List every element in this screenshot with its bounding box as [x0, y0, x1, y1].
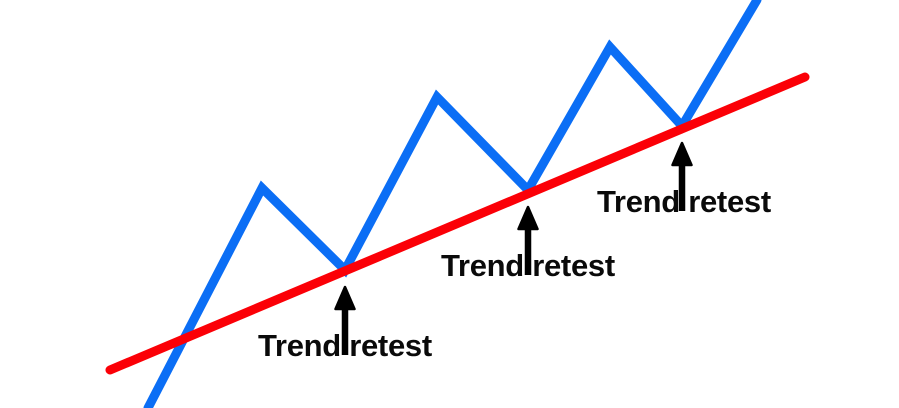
annotation-label-retest-1: Trend retest	[258, 330, 432, 361]
diagram-canvas: Trend retest Trend retest Trend retest	[0, 0, 899, 408]
annotation-label-retest-3: Trend retest	[597, 186, 771, 217]
annotation-label-retest-2: Trend retest	[441, 250, 615, 281]
